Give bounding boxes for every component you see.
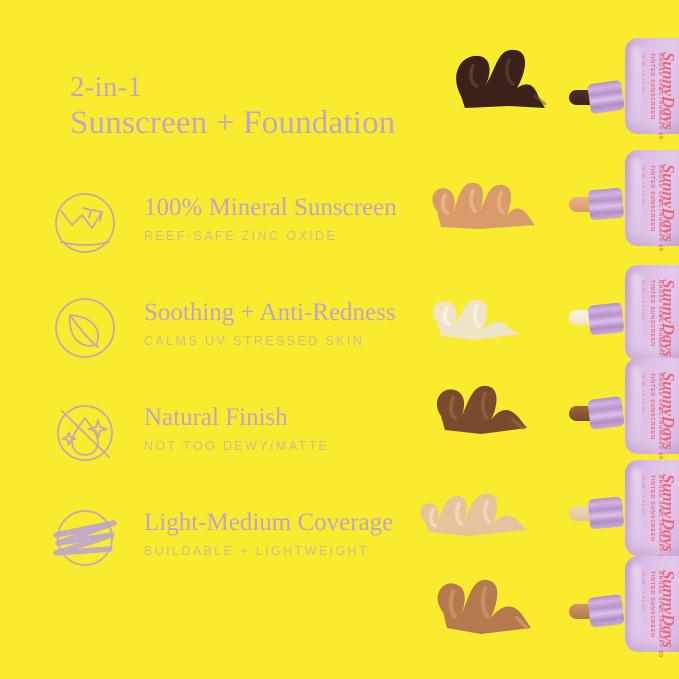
shade-swatch-espresso (439, 24, 579, 134)
label-volume-line: 30 ML / 1 FL OZ (641, 53, 646, 94)
product-bottle: SunnyDays BROAD SPECTRUM SPF 30 TINTED S… (625, 556, 679, 652)
label-type-line: TINTED SUNSCREEN (649, 571, 655, 638)
feature-title: Natural Finish (144, 404, 474, 432)
no-dewy-droplet-icon (52, 400, 118, 466)
feature-item-natural-finish: Natural Finish NOT TOO DEWY/MATTE (48, 398, 468, 503)
label-type-line: TINTED SUNSCREEN (649, 53, 655, 120)
feature-item-coverage: Light-Medium Coverage BUILDABLE + LIGHTW… (48, 503, 468, 608)
feature-list: 100% Mineral Sunscreen REEF-SAFE ZINC OX… (48, 188, 468, 608)
product-unit: SunnyDays BROAD SPECTRUM SPF 30 TINTED S… (449, 18, 679, 138)
product-bottle: SunnyDays BROAD SPECTRUM SPF 30 TINTED S… (625, 38, 679, 134)
coverage-swatch-icon (52, 505, 118, 571)
label-spf-line: BROAD SPECTRUM SPF 30 (657, 373, 663, 460)
headline-line-1: 2-in-1 (70, 72, 395, 103)
bottle-neck (588, 188, 624, 221)
label-type-line: TINTED SUNSCREEN (649, 373, 655, 440)
label-volume-line: 30 ML / 1 FL OZ (641, 280, 646, 321)
label-type-line: TINTED SUNSCREEN (649, 280, 655, 347)
shade-swatch-deep-caramel (425, 540, 575, 660)
page-title: 2-in-1 Sunscreen + Foundation (70, 72, 395, 141)
product-bottle: SunnyDays BROAD SPECTRUM SPF 30 TINTED S… (625, 150, 679, 246)
product-label: SunnyDays BROAD SPECTRUM SPF 30 TINTED S… (625, 556, 679, 652)
label-volume-line: 30 ML / 1 FL OZ (641, 571, 646, 612)
sunscreen-reflect-icon (52, 190, 118, 256)
product-label: SunnyDays BROAD SPECTRUM SPF 30 TINTED S… (625, 150, 679, 246)
product-feature-graphic: 2-in-1 Sunscreen + Foundation 100% Miner… (0, 0, 679, 679)
leaf-icon (52, 295, 118, 361)
shade-swatch-chocolate (427, 350, 577, 460)
label-volume-line: 30 ML / 1 FL OZ (641, 165, 646, 206)
product-label: SunnyDays BROAD SPECTRUM SPF 30 TINTED S… (625, 358, 679, 454)
bottle-neck (587, 80, 625, 114)
shade-swatch-medium-tan (419, 159, 569, 259)
feature-text: Natural Finish NOT TOO DEWY/MATTE (144, 404, 474, 453)
headline-line-2: Sunscreen + Foundation (70, 106, 395, 141)
bottle-neck (587, 396, 624, 430)
label-spf-line: BROAD SPECTRUM SPF 30 (657, 53, 663, 140)
label-volume-line: 30 ML / 1 FL OZ (641, 475, 646, 516)
feature-subtitle: NOT TOO DEWY/MATTE (144, 439, 474, 453)
label-type-line: TINTED SUNSCREEN (649, 165, 655, 232)
bottle-neck (588, 302, 625, 335)
bottle-neck (588, 497, 624, 530)
product-bottle-column: SunnyDays BROAD SPECTRUM SPF 30 TINTED S… (449, 0, 679, 679)
product-unit: SunnyDays BROAD SPECTRUM SPF 30 TINTED S… (449, 145, 679, 265)
feature-item-mineral-sunscreen: 100% Mineral Sunscreen REEF-SAFE ZINC OX… (48, 188, 468, 293)
bottle-neck (587, 594, 624, 628)
label-spf-line: BROAD SPECTRUM SPF 30 (657, 165, 663, 252)
product-bottle: SunnyDays BROAD SPECTRUM SPF 30 TINTED S… (625, 358, 679, 454)
product-label: SunnyDays BROAD SPECTRUM SPF 30 TINTED S… (625, 38, 679, 134)
label-volume-line: 30 ML / 1 FL OZ (641, 373, 646, 414)
product-unit: SunnyDays BROAD SPECTRUM SPF 30 TINTED S… (449, 530, 679, 660)
feature-item-soothing: Soothing + Anti-Redness CALMS UV STRESSE… (48, 293, 468, 398)
label-spf-line: BROAD SPECTRUM SPF 30 (657, 571, 663, 658)
